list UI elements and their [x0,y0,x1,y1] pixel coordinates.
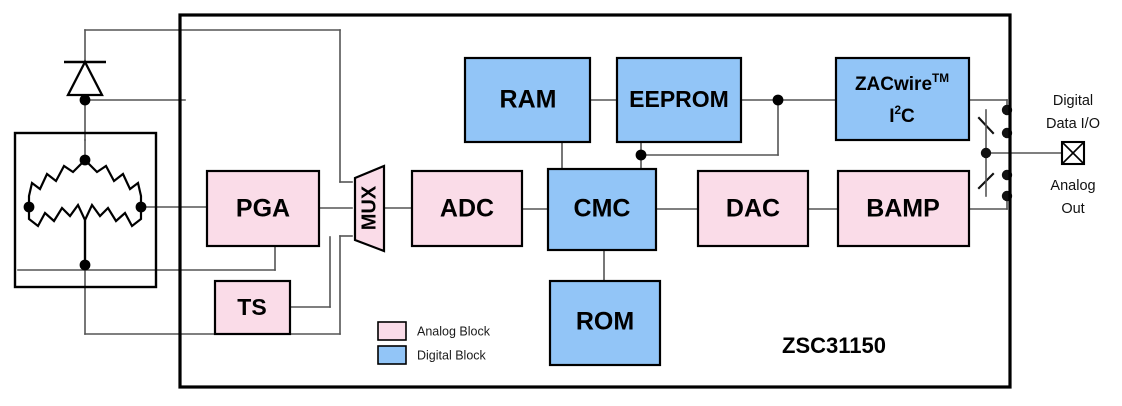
block-bamp-label: BAMP [866,195,940,223]
junction-eeprom-bottom [636,150,647,161]
block-ram[interactable]: RAM [465,58,590,142]
legend-label-analog: Analog Block [417,324,491,338]
resistor-top-right [85,160,141,207]
legend-item-digital: Digital Block [378,346,487,364]
protection-diode [64,62,106,95]
legend-label-digital: Digital Block [417,348,487,362]
switch-contact-common[interactable] [981,148,991,158]
block-pga-label: PGA [236,195,290,223]
diode-triangle [68,62,102,95]
block-mux[interactable]: MUX [355,166,384,251]
block-cmc-label: CMC [574,195,631,223]
bridge-resistor-network [29,160,141,265]
block-diagram-canvas: PGA TS MUX ADC CMC DAC BAM [0,0,1122,406]
block-rom-label: ROM [576,308,634,336]
block-eeprom-label: EEPROM [629,86,729,112]
resistor-top-left [29,160,85,207]
block-zacwire-i2c[interactable]: ZACwireTM I2C [836,58,969,140]
block-adc-label: ADC [440,195,494,223]
chip-name-label: ZSC31150 [782,333,886,358]
block-ts[interactable]: TS [215,281,290,334]
legend-swatch-digital [378,346,406,364]
legend: Analog Block Digital Block [378,322,491,364]
output-pad [1062,142,1084,164]
block-mux-label: MUX [358,185,380,230]
block-pga[interactable]: PGA [207,171,319,246]
resistor-bottom-right [85,205,141,265]
block-ts-label: TS [237,294,266,320]
block-rom[interactable]: ROM [550,281,660,365]
port-label-digital-line1: Digital [1053,93,1093,109]
block-cmc[interactable]: CMC [548,169,656,250]
junction-diode-anode [80,95,91,106]
port-label-analog-line2: Out [1061,201,1084,217]
block-adc[interactable]: ADC [412,171,522,246]
block-zacwire-line2: I2C [889,104,915,127]
resistor-bottom-left [29,205,85,265]
block-eeprom[interactable]: EEPROM [617,58,741,142]
block-ram-label: RAM [500,86,557,114]
port-label-analog-line1: Analog [1050,178,1095,194]
block-dac-label: DAC [726,195,780,223]
zsc31150-block-diagram: PGA TS MUX ADC CMC DAC BAM [0,0,1122,406]
junction-eeprom-right [773,95,784,106]
legend-item-analog: Analog Block [378,322,491,340]
port-label-digital-line2: Data I/O [1046,116,1100,132]
legend-swatch-analog [378,322,406,340]
block-dac[interactable]: DAC [698,171,808,246]
block-bamp[interactable]: BAMP [838,171,969,246]
